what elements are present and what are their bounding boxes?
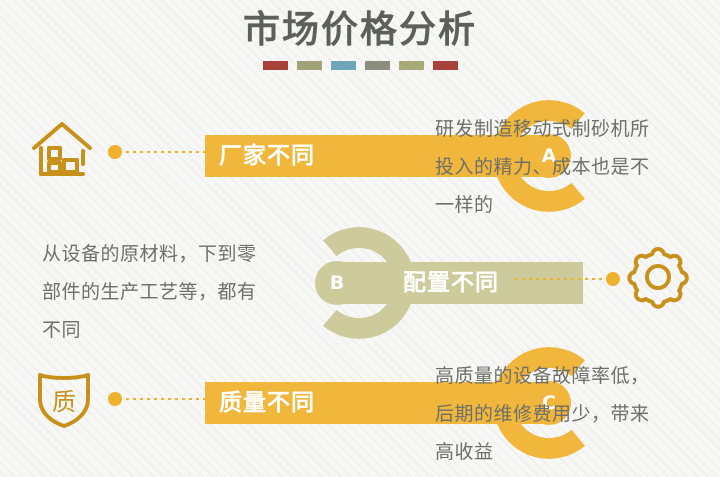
body-line: 研发制造移动式制砂机所 (435, 110, 685, 148)
connector-dot-a (108, 145, 122, 159)
house-icon (30, 118, 94, 182)
connector-dot-b (606, 272, 620, 286)
gear-icon (626, 245, 690, 309)
feature-row-c: 质 质量不同 C 高质量的设备故障率低， 后期的维修费用少，带来 高收益 (0, 347, 720, 467)
badge-label-a: 厂家不同 (219, 135, 315, 177)
connector-c (108, 392, 208, 406)
feature-row-a: 厂家不同 A 研发制造移动式制砂机所 投入的精力、成本也是不 一样的 (0, 100, 720, 215)
body-line: 高收益 (435, 433, 685, 471)
feature-row-b: 从设备的原材料，下到零 部件的生产工艺等，都有 不同 配置不同 B (0, 227, 720, 347)
connector-a (108, 145, 208, 159)
divider-dash-2 (297, 61, 322, 70)
badge-label-b: 配置不同 (403, 262, 499, 304)
connector-line-c (126, 398, 208, 400)
shield-icon-label: 质 (32, 365, 96, 431)
body-line: 部件的生产工艺等，都有 (42, 273, 292, 311)
connector-b (515, 272, 620, 286)
divider-dash-1 (263, 61, 288, 70)
marker-b: B (315, 261, 359, 305)
badge-label-c: 质量不同 (219, 382, 315, 424)
body-text-a: 研发制造移动式制砂机所 投入的精力、成本也是不 一样的 (435, 110, 685, 224)
connector-dot-c (108, 392, 122, 406)
body-line: 从设备的原材料，下到零 (42, 235, 292, 273)
infographic-canvas: 市场价格分析 厂家不同 (0, 0, 720, 477)
shield-quality-icon: 质 (32, 365, 96, 429)
divider-dash-5 (399, 61, 424, 70)
body-line: 不同 (42, 311, 292, 349)
body-line: 一样的 (435, 186, 685, 224)
connector-line-b (515, 278, 602, 280)
title-divider (0, 61, 720, 70)
divider-dash-6 (433, 61, 458, 70)
connector-line-a (126, 151, 208, 153)
divider-dash-3 (331, 61, 356, 70)
body-text-c: 高质量的设备故障率低， 后期的维修费用少，带来 高收益 (435, 357, 685, 471)
body-line: 投入的精力、成本也是不 (435, 148, 685, 186)
body-line: 后期的维修费用少，带来 (435, 395, 685, 433)
divider-dash-4 (365, 61, 390, 70)
body-text-b: 从设备的原材料，下到零 部件的生产工艺等，都有 不同 (42, 235, 292, 349)
body-line: 高质量的设备故障率低， (435, 357, 685, 395)
page-title: 市场价格分析 (0, 6, 720, 54)
